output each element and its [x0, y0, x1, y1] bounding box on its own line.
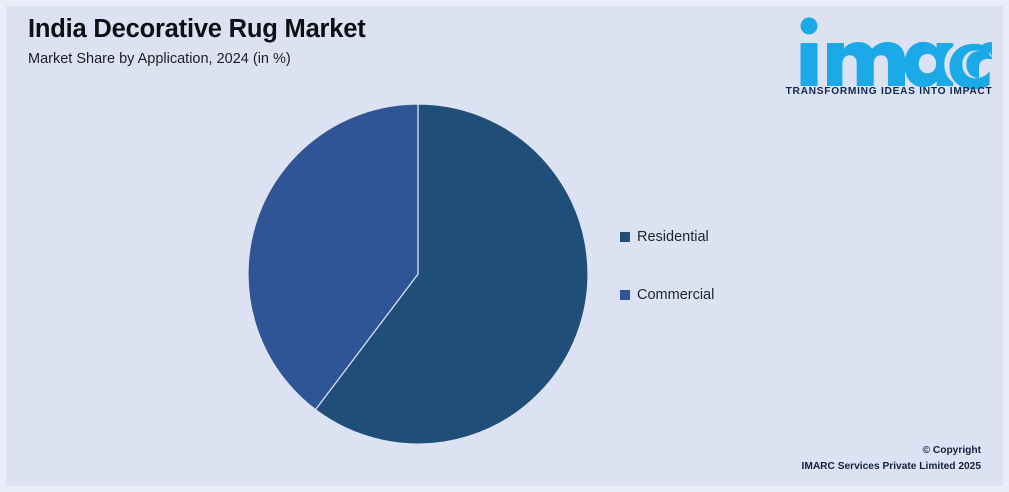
chart-subtitle: Market Share by Application, 2024 (in %): [28, 51, 668, 67]
legend-item-residential[interactable]: Residential: [620, 222, 850, 252]
legend-label-residential: Residential: [637, 230, 709, 245]
copyright-line: © Copyright: [802, 443, 982, 459]
pie-slices: [248, 104, 588, 444]
chart-header: India Decorative Rug Market Market Share…: [28, 14, 668, 67]
copyright-footer: © Copyright IMARC Services Private Limit…: [802, 443, 982, 475]
imarc-wordmark-icon: [786, 12, 992, 90]
legend-swatch-icon: [620, 232, 630, 242]
legend-label-commercial: Commercial: [637, 288, 714, 303]
pie-chart: [242, 98, 594, 450]
legend-swatch-icon: [620, 290, 630, 300]
chart-legend: Residential Commercial: [620, 222, 850, 338]
imarc-logo: TRANSFORMING IDEAS INTO IMPACT: [783, 12, 995, 97]
page-title: India Decorative Rug Market: [28, 14, 668, 46]
company-line: IMARC Services Private Limited 2025: [802, 459, 982, 475]
chart-figure: India Decorative Rug Market Market Share…: [0, 0, 1009, 492]
logo-tagline: TRANSFORMING IDEAS INTO IMPACT: [783, 86, 995, 97]
pie-chart-svg: [242, 98, 594, 450]
legend-item-commercial[interactable]: Commercial: [620, 280, 850, 310]
